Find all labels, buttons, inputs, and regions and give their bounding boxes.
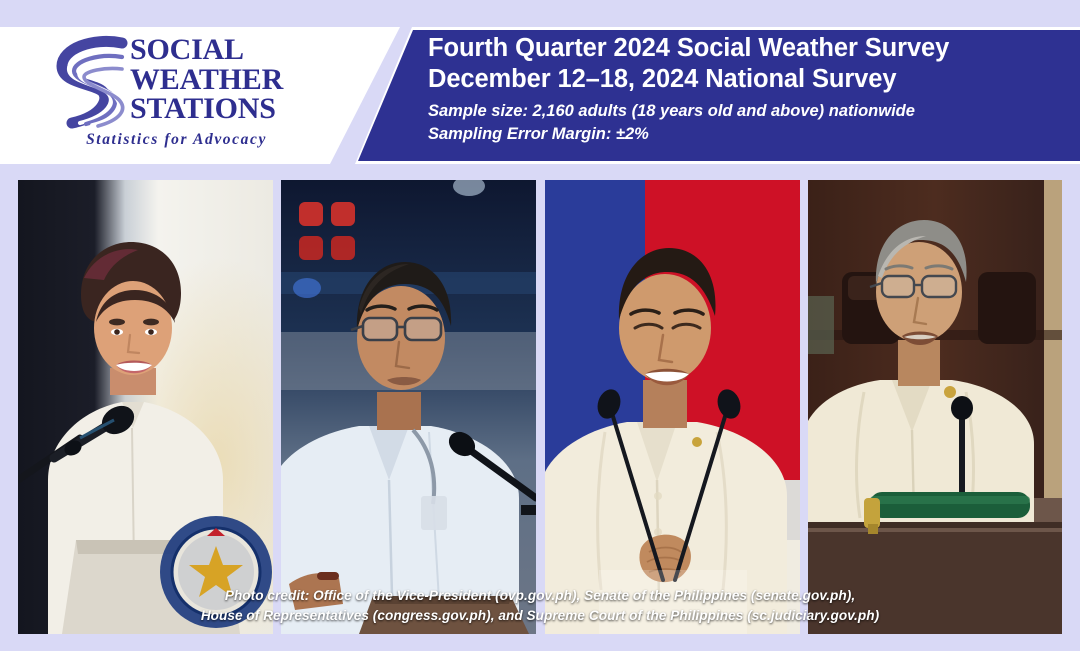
photo-vice-president bbox=[18, 180, 273, 634]
photo-senate-president bbox=[281, 180, 536, 634]
survey-title-line-1: Fourth Quarter 2024 Social Weather Surve… bbox=[428, 33, 1058, 64]
photo-chief-justice bbox=[808, 180, 1062, 634]
sample-size-text: Sample size: 2,160 adults (18 years old … bbox=[428, 101, 1058, 123]
error-margin-text: Sampling Error Margin: ±2% bbox=[428, 124, 1058, 146]
sws-logo-wordmark: SOCIAL WEATHER STATIONS bbox=[130, 35, 300, 124]
sws-logo: SOCIAL WEATHER STATIONS Statistics for A… bbox=[52, 33, 297, 145]
survey-title-block: Fourth Quarter 2024 Social Weather Surve… bbox=[428, 33, 1058, 146]
photo-strip bbox=[0, 180, 1080, 634]
sws-logo-line-3: STATIONS bbox=[130, 94, 300, 124]
sws-logo-line-2: WEATHER bbox=[130, 65, 300, 95]
sws-logo-line-1: SOCIAL bbox=[130, 35, 300, 65]
infographic-canvas: SOCIAL WEATHER STATIONS Statistics for A… bbox=[0, 0, 1080, 651]
survey-title-line-2: December 12–18, 2024 National Survey bbox=[428, 64, 1058, 95]
sws-swirl-logo-mark-icon bbox=[52, 33, 130, 131]
photo-house-speaker bbox=[545, 180, 800, 634]
sws-logo-tagline: Statistics for Advocacy bbox=[55, 131, 298, 149]
